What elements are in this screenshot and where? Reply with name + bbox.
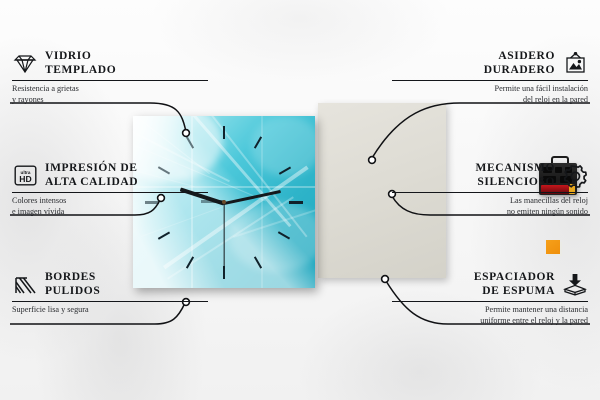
clock-center-hub (222, 200, 226, 204)
feature-title-line1: ESPACIADOR (392, 271, 555, 285)
feature-title-line2: ALTA CALIDAD (45, 176, 138, 190)
feature-subtitle-line1: Permite una fácil instalación (392, 84, 588, 94)
feature-title-line2: SILENCIOSO (392, 176, 555, 190)
feature-subtitle-line2: no emiten ningún sonido (392, 207, 588, 217)
feature-title-line1: VIDRIO (45, 50, 116, 64)
feature-title-line2: DE ESPUMA (392, 285, 555, 299)
feature-subtitle-line2: uniforme entre el reloj y la pared (392, 316, 588, 326)
foam-spacer-part (546, 240, 560, 254)
diamond-icon (12, 52, 38, 76)
feature-underline (12, 192, 208, 193)
feature-espaciador-de-espuma: ESPACIADOR DE ESPUMA Permite mantener un… (392, 271, 588, 326)
clock-second-hand (223, 203, 224, 269)
feature-impresion-alta-calidad: ultra HD IMPRESIÓN DE ALTA CALIDAD Color… (12, 162, 208, 217)
ultra-hd-icon-label-bottom: HD (19, 174, 31, 184)
feature-underline (12, 80, 208, 81)
feature-subtitle-line2: y rayones (12, 95, 208, 105)
feature-subtitle-line1: Superficie lisa y segura (12, 305, 208, 315)
feature-underline (392, 192, 588, 193)
feature-underline (392, 80, 588, 81)
infographic-canvas: VIDRIO TEMPLADO Resistencia a grietas y … (0, 0, 600, 400)
feature-title-line2: DURADERO (392, 64, 555, 78)
feature-subtitle-line1: Colores intensos (12, 196, 208, 206)
feature-bordes-pulidos: BORDES PULIDOS Superficie lisa y segura (12, 271, 208, 316)
polished-edges-icon (12, 273, 38, 297)
feature-vidrio-templado: VIDRIO TEMPLADO Resistencia a grietas y … (12, 50, 208, 105)
ultra-hd-icon: ultra HD (12, 164, 38, 188)
feature-underline (12, 301, 208, 302)
feature-subtitle-line1: Permite mantener una distancia (392, 305, 588, 315)
feature-mecanismo-silencioso: MECANISMO SILENCIOSO Las manecillas del … (392, 162, 588, 217)
feature-asidero-duradero: ASIDERO DURADERO Permite una fácil insta… (392, 50, 588, 105)
feature-title-line2: PULIDOS (45, 285, 100, 299)
feature-subtitle-line2: e imagen vívida (12, 207, 208, 217)
feature-title-line1: ASIDERO (392, 50, 555, 64)
feature-title-line1: BORDES (45, 271, 100, 285)
feature-subtitle-line1: Resistencia a grietas (12, 84, 208, 94)
gear-icon (562, 164, 588, 188)
feature-subtitle-line1: Las manecillas del reloj (392, 196, 588, 206)
feature-underline (392, 301, 588, 302)
foam-spacer-icon (562, 273, 588, 297)
feature-title-line1: IMPRESIÓN DE (45, 162, 138, 176)
picture-hanger-icon (562, 52, 588, 76)
feature-subtitle-line2: del reloj en la pared (392, 95, 588, 105)
feature-title-line1: MECANISMO (392, 162, 555, 176)
feature-title-line2: TEMPLADO (45, 64, 116, 78)
